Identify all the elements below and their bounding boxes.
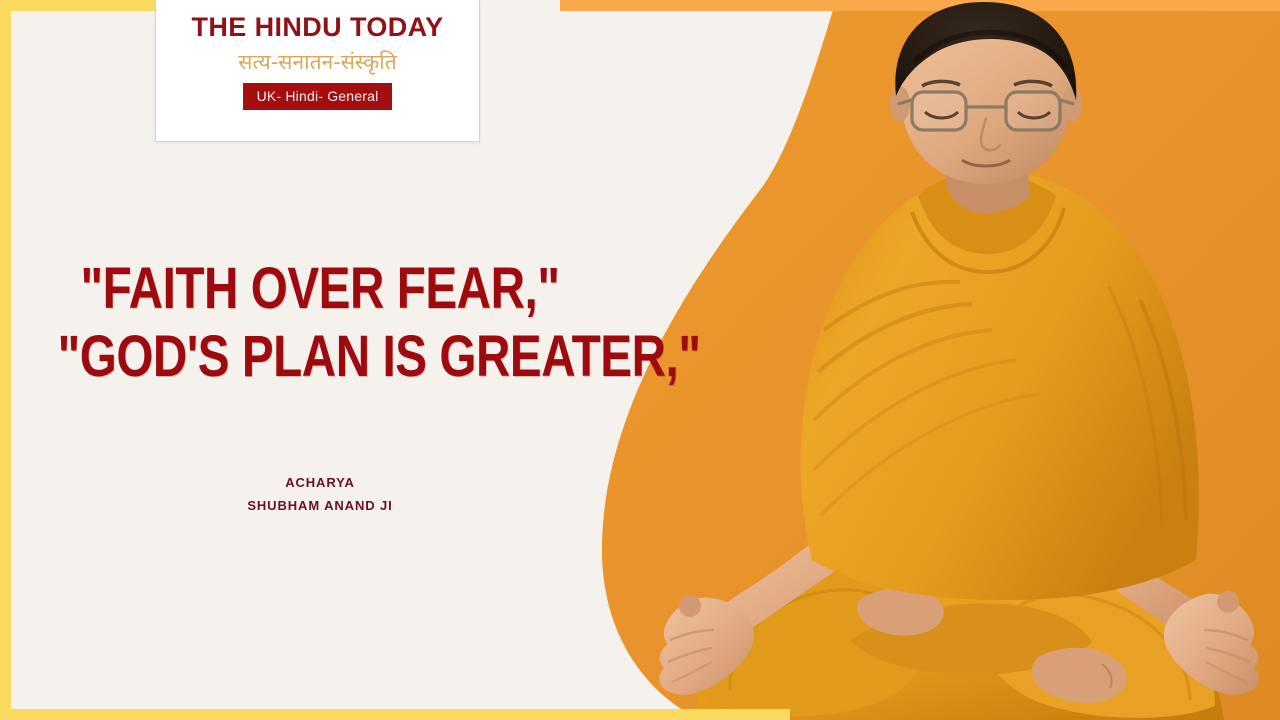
quote-block: "FAITH OVER FEAR," "GOD'S PLAN IS GREATE… [0, 255, 640, 392]
brand-title: THE HINDU TODAY [191, 14, 443, 41]
quote-line-2: "GOD'S PLAN IS GREATER," [58, 323, 583, 391]
top-orange-strip [560, 0, 1280, 11]
attribution-line-1: ACHARYA [0, 472, 640, 495]
attribution-block: ACHARYA SHUBHAM ANAND JI [0, 472, 640, 518]
brand-subtitle-hindi: सत्य-सनातन-संस्कृति [238, 50, 396, 74]
brand-logo-card[interactable]: THE HINDU TODAY सत्य-सनातन-संस्कृति UK- … [155, 0, 480, 142]
quote-line-1: "FAITH OVER FEAR," [58, 255, 583, 323]
brand-category-badge: UK- Hindi- General [243, 83, 393, 110]
bottom-yellow-border [0, 709, 790, 720]
poster-canvas: THE HINDU TODAY सत्य-सनातन-संस्कृति UK- … [0, 0, 1280, 720]
attribution-line-2: SHUBHAM ANAND JI [0, 495, 640, 518]
